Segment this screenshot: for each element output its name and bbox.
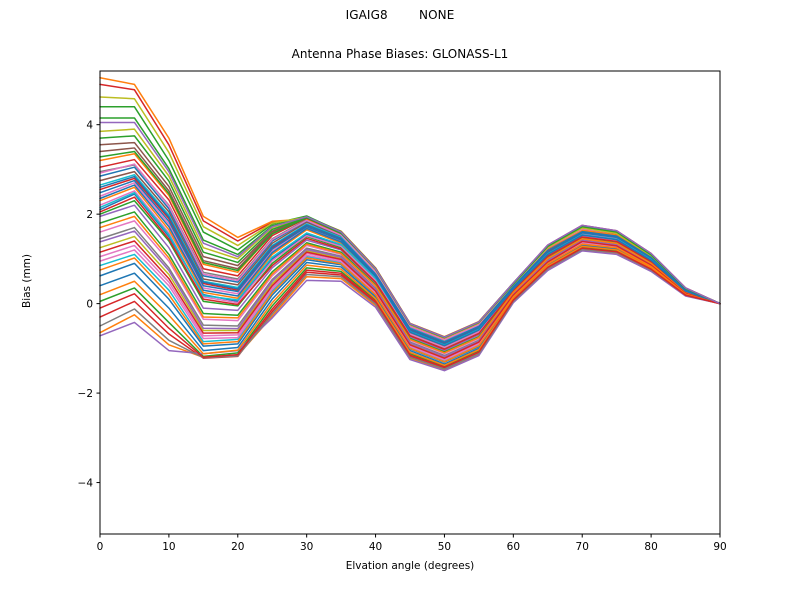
matplotlib-figure: IGAIG8 NONE Antenna Phase Biases: GLONAS… <box>0 0 800 600</box>
line-series-group <box>100 78 720 371</box>
x-tick-label: 0 <box>97 541 104 553</box>
x-tick-label: 30 <box>300 541 313 553</box>
x-tick-label: 60 <box>507 541 520 553</box>
y-axis-ticks: −4−2024 <box>78 119 100 489</box>
y-tick-label: −2 <box>78 388 93 400</box>
y-tick-label: 0 <box>86 298 93 310</box>
x-axis-ticks: 0102030405060708090 <box>97 534 727 553</box>
y-axis-label: Bias (mm) <box>21 221 33 341</box>
x-tick-label: 20 <box>231 541 244 553</box>
y-tick-label: 2 <box>86 209 93 221</box>
y-tick-label: 4 <box>86 119 93 131</box>
plot-canvas: 0102030405060708090 −4−2024 <box>0 0 800 600</box>
x-axis-label: Elvation angle (degrees) <box>100 560 720 572</box>
x-tick-label: 80 <box>644 541 657 553</box>
x-tick-label: 70 <box>576 541 589 553</box>
x-tick-label: 40 <box>369 541 382 553</box>
x-tick-label: 50 <box>438 541 451 553</box>
series-line <box>100 129 720 337</box>
y-tick-label: −4 <box>78 477 94 489</box>
x-tick-label: 10 <box>162 541 175 553</box>
x-tick-label: 90 <box>713 541 726 553</box>
